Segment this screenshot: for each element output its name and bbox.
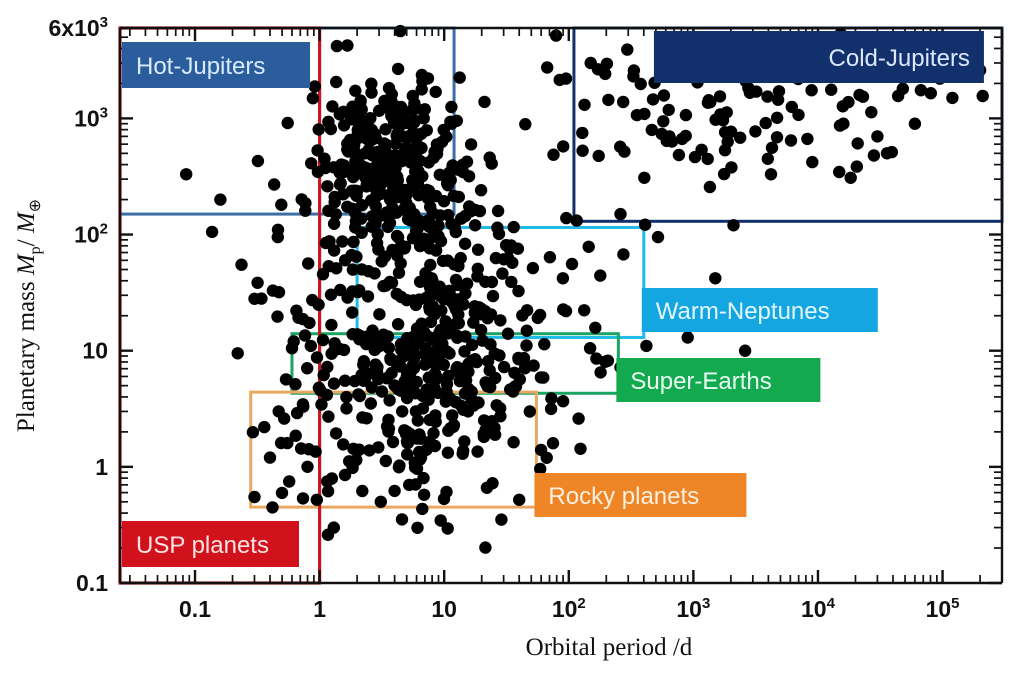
data-point xyxy=(471,445,483,457)
data-point xyxy=(663,104,675,116)
data-point xyxy=(761,90,773,102)
data-point xyxy=(493,228,505,240)
data-point xyxy=(617,248,629,260)
data-point xyxy=(320,237,332,249)
data-point xyxy=(311,494,323,506)
data-point xyxy=(362,122,374,134)
plot-background xyxy=(0,0,1022,689)
data-point xyxy=(484,338,496,350)
data-point xyxy=(382,425,394,437)
data-point xyxy=(739,345,751,357)
data-point xyxy=(334,178,346,190)
data-point xyxy=(482,355,494,367)
data-point xyxy=(657,115,669,127)
data-point xyxy=(524,405,536,417)
data-point xyxy=(403,479,415,491)
data-point xyxy=(347,236,359,248)
data-point xyxy=(485,308,497,320)
data-point xyxy=(909,118,921,130)
data-point xyxy=(897,83,909,95)
data-point xyxy=(264,451,276,463)
data-point xyxy=(296,193,308,205)
data-point xyxy=(322,116,334,128)
x-tick-label: 10 xyxy=(431,596,457,622)
data-point xyxy=(394,25,406,37)
data-point xyxy=(578,304,590,316)
data-point xyxy=(640,340,652,352)
data-point xyxy=(480,424,492,436)
data-point xyxy=(472,244,484,256)
svg-text:Planetary mass Mp/ M⊕: Planetary mass Mp/ M⊕ xyxy=(13,199,44,432)
data-point xyxy=(452,308,464,320)
data-point xyxy=(303,443,315,455)
data-point xyxy=(865,106,877,118)
data-point xyxy=(478,96,490,108)
data-point xyxy=(572,412,584,424)
data-point xyxy=(350,165,362,177)
data-point xyxy=(409,115,421,127)
data-point xyxy=(369,344,381,356)
data-point xyxy=(946,92,958,104)
y-tick-label: 6x103 xyxy=(48,14,108,41)
data-point xyxy=(354,96,366,108)
label-text: Cold-Jupiters xyxy=(829,45,970,72)
data-point xyxy=(487,290,499,302)
data-point xyxy=(251,277,263,289)
data-point xyxy=(248,491,260,503)
data-point xyxy=(458,362,470,374)
data-point xyxy=(350,111,362,123)
data-point xyxy=(507,436,519,448)
y-axis-title: Planetary mass Mp/ M⊕ xyxy=(13,199,44,432)
label-text: Hot-Jupiters xyxy=(136,53,265,80)
data-point xyxy=(330,208,342,220)
data-point xyxy=(399,375,411,387)
data-point xyxy=(311,144,323,156)
data-point xyxy=(621,43,633,55)
data-point xyxy=(852,137,864,149)
data-point xyxy=(434,356,446,368)
data-point xyxy=(514,373,526,385)
data-point xyxy=(334,108,346,120)
data-point xyxy=(765,168,777,180)
data-point xyxy=(319,162,331,174)
data-point xyxy=(305,340,317,352)
data-point xyxy=(393,267,405,279)
data-point xyxy=(584,342,596,354)
data-point xyxy=(977,90,989,102)
data-point xyxy=(527,359,539,371)
data-point xyxy=(801,133,813,145)
data-point xyxy=(719,144,731,156)
data-point xyxy=(346,185,358,197)
data-point xyxy=(454,71,466,83)
data-point xyxy=(393,461,405,473)
data-point xyxy=(444,288,456,300)
data-point xyxy=(792,109,804,121)
data-point xyxy=(545,403,557,415)
data-point xyxy=(286,342,298,354)
region-label-hot-jupiters: Hot-Jupiters xyxy=(122,42,310,88)
data-point xyxy=(383,394,395,406)
data-point xyxy=(413,169,425,181)
data-point xyxy=(337,438,349,450)
data-point xyxy=(338,159,350,171)
data-point xyxy=(344,134,356,146)
data-point xyxy=(395,291,407,303)
data-point xyxy=(373,308,385,320)
data-point xyxy=(428,146,440,158)
data-point xyxy=(340,402,352,414)
data-point xyxy=(442,447,454,459)
data-point xyxy=(868,149,880,161)
data-point xyxy=(594,269,606,281)
data-point xyxy=(392,63,404,75)
data-point xyxy=(440,486,452,498)
data-point xyxy=(423,185,435,197)
data-point xyxy=(315,398,327,410)
svg-text:10: 10 xyxy=(82,338,108,364)
data-point xyxy=(520,339,532,351)
data-point xyxy=(388,485,400,497)
data-point xyxy=(232,347,244,359)
data-point xyxy=(631,109,643,121)
data-point xyxy=(301,461,313,473)
data-point xyxy=(280,373,292,385)
data-point xyxy=(357,375,369,387)
data-point xyxy=(258,421,270,433)
data-point xyxy=(435,514,447,526)
data-point xyxy=(495,513,507,525)
label-text: Warm-Neptunes xyxy=(656,298,830,325)
data-point xyxy=(842,96,854,108)
data-point xyxy=(825,84,837,96)
data-point xyxy=(851,160,863,172)
data-point xyxy=(702,97,714,109)
data-point xyxy=(445,101,457,113)
data-point xyxy=(339,469,351,481)
data-point xyxy=(321,180,333,192)
data-point xyxy=(490,252,502,264)
data-point xyxy=(328,377,340,389)
data-point xyxy=(578,99,590,111)
data-point xyxy=(336,235,348,247)
data-point xyxy=(297,492,309,504)
data-point xyxy=(356,485,368,497)
data-point xyxy=(602,94,614,106)
data-point xyxy=(345,249,357,261)
data-point xyxy=(627,70,639,82)
data-point xyxy=(356,411,368,423)
data-point xyxy=(773,85,785,97)
x-tick-label: 1 xyxy=(313,596,326,622)
data-point xyxy=(704,181,716,193)
y-tick-label: 10 xyxy=(82,338,108,364)
data-point xyxy=(385,187,397,199)
data-point xyxy=(432,230,444,242)
data-point xyxy=(614,208,626,220)
data-point xyxy=(469,353,481,365)
data-point xyxy=(413,293,425,305)
data-point xyxy=(392,318,404,330)
data-point xyxy=(272,231,284,243)
data-point xyxy=(695,144,707,156)
data-point xyxy=(717,114,729,126)
data-point xyxy=(301,362,313,374)
data-point xyxy=(448,190,460,202)
data-point xyxy=(359,147,371,159)
data-point xyxy=(313,123,325,135)
data-point xyxy=(647,93,659,105)
data-point xyxy=(350,454,362,466)
data-point xyxy=(410,102,422,114)
data-point xyxy=(379,123,391,135)
data-point xyxy=(396,405,408,417)
data-point xyxy=(492,205,504,217)
data-point xyxy=(372,441,384,453)
data-point xyxy=(307,92,319,104)
data-point xyxy=(273,286,285,298)
data-point xyxy=(441,177,453,189)
data-point xyxy=(474,205,486,217)
data-point xyxy=(541,61,553,73)
data-point xyxy=(424,242,436,254)
data-point xyxy=(557,140,569,152)
data-point xyxy=(247,426,259,438)
data-point xyxy=(602,355,614,367)
data-point xyxy=(527,262,539,274)
data-point xyxy=(512,243,524,255)
data-point xyxy=(382,330,394,342)
data-point xyxy=(410,146,422,158)
data-point xyxy=(513,494,525,506)
data-point xyxy=(547,149,559,161)
region-label-usp-planets: USP planets xyxy=(122,521,299,567)
data-point xyxy=(376,255,388,267)
data-point xyxy=(766,142,778,154)
data-point xyxy=(429,308,441,320)
data-point xyxy=(325,289,337,301)
data-point xyxy=(590,352,602,364)
data-point xyxy=(330,427,342,439)
data-point xyxy=(412,414,424,426)
data-point xyxy=(585,57,597,69)
data-point xyxy=(252,155,264,167)
data-point xyxy=(368,267,380,279)
data-point xyxy=(459,387,471,399)
data-point xyxy=(871,130,883,142)
data-point xyxy=(416,503,428,515)
data-point xyxy=(441,378,453,390)
data-point xyxy=(214,193,226,205)
data-point xyxy=(312,299,324,311)
data-point xyxy=(402,208,414,220)
data-point xyxy=(180,168,192,180)
data-point xyxy=(535,444,547,456)
data-point xyxy=(806,156,818,168)
data-point xyxy=(458,435,470,447)
data-point xyxy=(508,221,520,233)
data-point xyxy=(369,218,381,230)
data-point xyxy=(299,329,311,341)
data-point xyxy=(331,40,343,52)
data-point xyxy=(303,317,315,329)
data-point xyxy=(311,351,323,363)
data-point xyxy=(465,138,477,150)
data-point xyxy=(881,147,893,159)
data-point xyxy=(365,78,377,90)
label-text: USP planets xyxy=(136,532,269,559)
data-point xyxy=(378,95,390,107)
data-point xyxy=(451,115,463,127)
data-point xyxy=(484,151,496,163)
data-point xyxy=(281,437,293,449)
data-point xyxy=(371,237,383,249)
data-point xyxy=(283,475,295,487)
data-point xyxy=(469,219,481,231)
data-point xyxy=(386,277,398,289)
data-point xyxy=(411,463,423,475)
figure-canvas: Hot-JupitersCold-JupitersWarm-NeptunesSu… xyxy=(0,0,1022,689)
data-point xyxy=(352,388,364,400)
data-point xyxy=(391,130,403,142)
data-point xyxy=(557,272,569,284)
data-point xyxy=(857,91,869,103)
data-point xyxy=(471,302,483,314)
data-point xyxy=(268,178,280,190)
data-point xyxy=(433,327,445,339)
data-point xyxy=(430,86,442,98)
data-point xyxy=(424,436,436,448)
scatter-plot: Hot-JupitersCold-JupitersWarm-NeptunesSu… xyxy=(0,0,1022,689)
data-point xyxy=(454,375,466,387)
data-point xyxy=(365,397,377,409)
data-point xyxy=(547,437,559,449)
data-point xyxy=(915,84,927,96)
data-point xyxy=(714,90,726,102)
data-point xyxy=(386,170,398,182)
data-point xyxy=(535,371,547,383)
data-point xyxy=(371,175,383,187)
data-point xyxy=(424,259,436,271)
data-point xyxy=(837,118,849,130)
data-point xyxy=(346,285,358,297)
data-point xyxy=(282,117,294,129)
data-point xyxy=(560,305,572,317)
data-point xyxy=(325,319,337,331)
data-point xyxy=(639,219,651,231)
data-point xyxy=(673,149,685,161)
data-point xyxy=(397,242,409,254)
data-point xyxy=(314,384,326,396)
region-label-super-earths: Super-Earths xyxy=(616,358,820,402)
data-point xyxy=(479,541,491,553)
region-label-cold-jupiters: Cold-Jupiters xyxy=(654,31,984,83)
data-point xyxy=(407,127,419,139)
data-point xyxy=(379,142,391,154)
data-point xyxy=(521,304,533,316)
data-point xyxy=(494,410,506,422)
data-point xyxy=(271,310,283,322)
data-point xyxy=(428,381,440,393)
region-label-warm-neptunes: Warm-Neptunes xyxy=(642,288,878,332)
data-point xyxy=(760,117,772,129)
data-point xyxy=(353,333,365,345)
data-point xyxy=(292,312,304,324)
data-point xyxy=(538,338,550,350)
data-point xyxy=(719,126,731,138)
data-point xyxy=(430,416,442,428)
data-point xyxy=(442,254,454,266)
data-point xyxy=(599,68,611,80)
data-point xyxy=(491,399,503,411)
data-point xyxy=(459,238,471,250)
data-point xyxy=(380,455,392,467)
data-point xyxy=(571,214,583,226)
data-point xyxy=(400,197,412,209)
data-point xyxy=(680,109,692,121)
data-point xyxy=(371,366,383,378)
data-point xyxy=(594,366,606,378)
data-point xyxy=(248,293,260,305)
data-point xyxy=(658,89,670,101)
data-point xyxy=(317,268,329,280)
data-point xyxy=(709,272,721,284)
data-point xyxy=(805,84,817,96)
data-point xyxy=(512,285,524,297)
data-point xyxy=(427,207,439,219)
svg-text:1: 1 xyxy=(313,596,326,622)
data-point xyxy=(845,172,857,184)
data-point xyxy=(382,221,394,233)
data-point xyxy=(762,153,774,165)
data-point xyxy=(309,80,321,92)
data-point xyxy=(328,521,340,533)
data-point xyxy=(396,513,408,525)
data-point xyxy=(415,451,427,463)
data-point xyxy=(434,281,446,293)
svg-text:0.1: 0.1 xyxy=(76,570,108,596)
data-point xyxy=(519,118,531,130)
data-point xyxy=(750,85,762,97)
data-point xyxy=(475,184,487,196)
data-point xyxy=(276,487,288,499)
data-point xyxy=(661,135,673,147)
data-point xyxy=(235,259,247,271)
data-point xyxy=(409,332,421,344)
data-point xyxy=(727,219,739,231)
y-tick-label: 1 xyxy=(95,454,108,480)
data-point xyxy=(734,132,746,144)
data-point xyxy=(452,164,464,176)
data-point xyxy=(467,316,479,328)
data-point xyxy=(305,157,317,169)
data-point xyxy=(614,141,626,153)
data-point xyxy=(455,400,467,412)
data-point xyxy=(206,226,218,238)
data-point xyxy=(560,72,572,84)
data-point xyxy=(593,150,605,162)
data-point xyxy=(387,109,399,121)
data-point xyxy=(557,395,569,407)
data-point xyxy=(749,125,761,137)
data-point xyxy=(418,348,430,360)
data-point xyxy=(321,475,333,487)
data-point xyxy=(375,496,387,508)
data-point xyxy=(457,448,469,460)
data-point xyxy=(416,69,428,81)
data-point xyxy=(278,412,290,424)
